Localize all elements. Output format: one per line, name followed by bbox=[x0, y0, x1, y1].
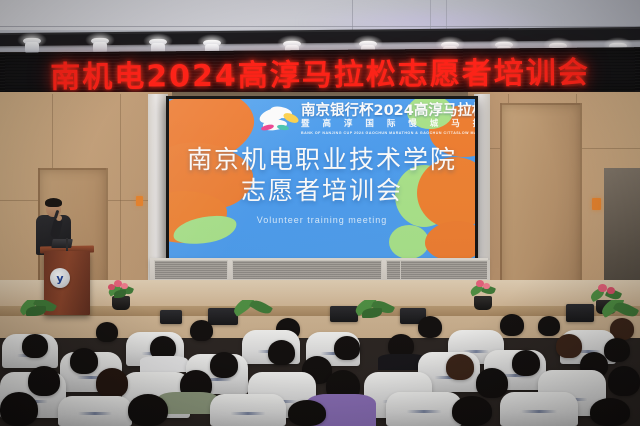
audience-head bbox=[96, 368, 128, 398]
ceiling-wire bbox=[430, 0, 431, 30]
audience-head bbox=[590, 398, 630, 426]
monitor-icon bbox=[330, 306, 358, 322]
slide-shape-orange bbox=[425, 221, 475, 261]
audience-head bbox=[268, 340, 295, 365]
audience-head bbox=[288, 400, 326, 426]
audience-head bbox=[556, 334, 582, 358]
flower-bloom bbox=[607, 287, 615, 294]
chair[interactable] bbox=[500, 392, 578, 426]
vent-grille bbox=[488, 260, 490, 280]
flower-bloom bbox=[108, 284, 115, 290]
audience-head bbox=[418, 316, 442, 338]
vent-grille bbox=[154, 260, 228, 280]
chair[interactable] bbox=[58, 396, 132, 426]
chair[interactable] bbox=[386, 392, 462, 426]
slide-shape-green bbox=[389, 225, 429, 259]
audience-head bbox=[604, 338, 630, 362]
monitor-icon bbox=[160, 310, 182, 324]
audience-head bbox=[28, 366, 60, 396]
led-banner-text: 南机电2024高淳马拉松志愿者培训会 bbox=[0, 47, 640, 97]
audience-area bbox=[0, 300, 640, 426]
wall-panel-seam bbox=[120, 94, 121, 310]
audience-head bbox=[452, 396, 492, 426]
slide-title-line2: 志愿者培训会 bbox=[169, 176, 475, 207]
plant-leaf bbox=[362, 308, 382, 318]
flower-bloom bbox=[598, 284, 607, 292]
plant-leaf bbox=[613, 300, 639, 320]
exit-sign-icon bbox=[592, 198, 601, 210]
slide-title-block: 南京机电职业技术学院 志愿者培训会 Volunteer training mee… bbox=[169, 145, 475, 225]
projected-slide: 南京银行杯2024高淳马拉松 暨 高 淳 国 际 慢 城 马 拉 松 BANK … bbox=[169, 99, 475, 261]
laptop-icon bbox=[51, 239, 73, 248]
audience-head bbox=[70, 348, 98, 374]
slide-header-english: BANK OF NANJING CUP 2024 GAOCHUN MARATHO… bbox=[301, 131, 469, 135]
audience-head bbox=[476, 368, 508, 398]
vent-grille bbox=[232, 260, 382, 280]
slide-header-line1: 南京银行杯2024高淳马拉松 bbox=[301, 104, 469, 119]
ceiling-seam-vertical bbox=[352, 0, 353, 30]
audience-head bbox=[190, 320, 213, 341]
ceiling-wire bbox=[446, 0, 447, 30]
podium-emblem-icon: y bbox=[50, 268, 70, 288]
audience-head bbox=[0, 392, 38, 426]
conference-hall-photo: 南机电2024高淳马拉松志愿者培训会 bbox=[0, 0, 640, 426]
led-banner: 南机电2024高淳马拉松志愿者培训会 bbox=[0, 47, 640, 97]
speaker-hair bbox=[45, 198, 62, 207]
slide-title-subtitle: Volunteer training meeting bbox=[169, 215, 475, 225]
audience-head bbox=[608, 366, 640, 396]
marathon-swoosh-logo-icon bbox=[257, 105, 303, 135]
mic-stand bbox=[66, 238, 68, 252]
plant-leaf bbox=[26, 306, 46, 316]
vent-grille bbox=[400, 260, 488, 280]
audience-head bbox=[128, 394, 168, 426]
slide-title-line1: 南京机电职业技术学院 bbox=[169, 145, 475, 176]
plant-leaf bbox=[249, 300, 273, 317]
slide-header: 南京银行杯2024高淳马拉松 暨 高 淳 国 际 慢 城 马 拉 松 BANK … bbox=[301, 104, 469, 135]
audience-shoulders bbox=[140, 356, 188, 372]
flower-bloom bbox=[483, 283, 490, 289]
monitor-icon bbox=[566, 304, 594, 322]
audience-head bbox=[538, 316, 560, 336]
audience-head bbox=[512, 350, 540, 376]
audience-head bbox=[22, 334, 48, 358]
audience-head bbox=[334, 336, 360, 360]
podium-emblem-char: y bbox=[56, 273, 63, 284]
audience-head bbox=[500, 314, 524, 336]
slide-header-line2: 暨 高 淳 国 际 慢 城 马 拉 松 bbox=[301, 119, 469, 130]
chair[interactable] bbox=[210, 394, 286, 426]
audience-head bbox=[210, 352, 238, 378]
exit-sign-icon bbox=[136, 196, 143, 206]
flower-bloom bbox=[121, 283, 128, 289]
projection-screen: 南京银行杯2024高淳马拉松 暨 高 淳 国 际 慢 城 马 拉 松 BANK … bbox=[166, 96, 478, 264]
audience-head bbox=[96, 322, 118, 342]
audience-head bbox=[446, 354, 474, 380]
